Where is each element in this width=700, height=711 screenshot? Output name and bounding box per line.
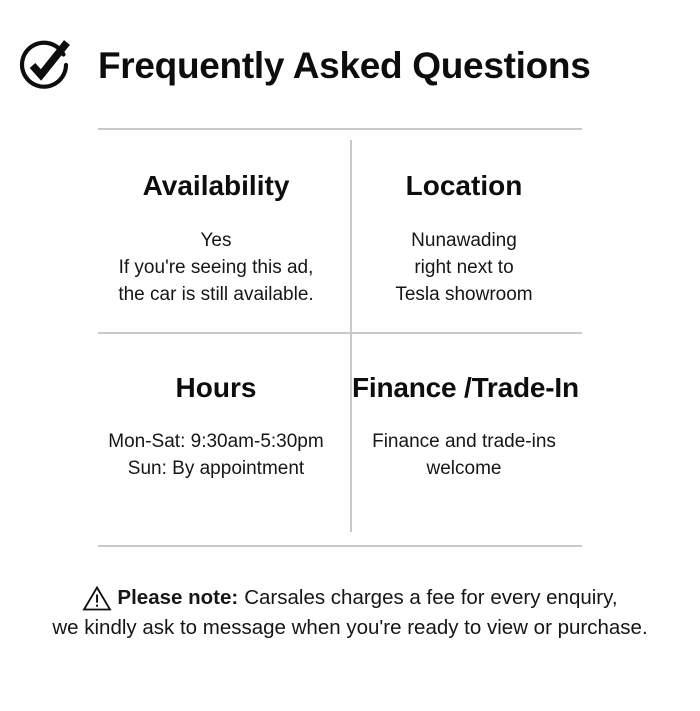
warning-triangle-icon xyxy=(82,585,112,612)
page-title: Frequently Asked Questions xyxy=(98,47,591,84)
faq-grid: Availability Yes If you're seeing this a… xyxy=(98,140,582,532)
faq-heading: Finance /Trade-In xyxy=(352,374,576,402)
faq-body-line: If you're seeing this ad, xyxy=(104,254,328,281)
faq-heading: Location xyxy=(352,172,576,200)
faq-body-line: Nunawading xyxy=(352,227,576,254)
faq-row: Hours Mon-Sat: 9:30am-5:30pm Sun: By app… xyxy=(98,336,582,532)
faq-body-line: right next to xyxy=(352,254,576,281)
faq-cell-hours: Hours Mon-Sat: 9:30am-5:30pm Sun: By app… xyxy=(98,336,340,532)
faq-body-line: Sun: By appointment xyxy=(104,455,328,482)
faq-heading: Availability xyxy=(104,172,328,200)
faq-card: Frequently Asked Questions Availability … xyxy=(0,0,700,711)
faq-body-line: Mon-Sat: 9:30am-5:30pm xyxy=(104,428,328,455)
faq-cell-availability: Availability Yes If you're seeing this a… xyxy=(98,140,340,336)
footer-line-one: Please note: Carsales charges a fee for … xyxy=(0,583,700,612)
faq-body: Finance and trade-ins welcome xyxy=(352,428,576,482)
faq-heading: Hours xyxy=(104,374,328,402)
faq-body-line: the car is still available. xyxy=(104,281,328,308)
faq-body-line: Tesla showroom xyxy=(352,281,576,308)
faq-cell-location: Location Nunawading right next to Tesla … xyxy=(340,140,582,336)
faq-body: Nunawading right next to Tesla showroom xyxy=(352,227,576,308)
footer-line-one-rest: Carsales charges a fee for every enquiry… xyxy=(244,583,617,612)
header: Frequently Asked Questions xyxy=(0,34,700,96)
footer-line-two: we kindly ask to message when you're rea… xyxy=(0,613,700,642)
divider-top xyxy=(98,128,582,130)
divider-bottom xyxy=(98,545,582,547)
footer-lead: Please note: xyxy=(117,583,238,612)
faq-body: Yes If you're seeing this ad, the car is… xyxy=(104,227,328,308)
footer-note: Please note: Carsales charges a fee for … xyxy=(0,583,700,642)
faq-cell-finance-trade-in: Finance /Trade-In Finance and trade-ins … xyxy=(340,336,582,532)
faq-body: Mon-Sat: 9:30am-5:30pm Sun: By appointme… xyxy=(104,428,328,482)
faq-row: Availability Yes If you're seeing this a… xyxy=(98,140,582,336)
faq-body-line: Yes xyxy=(104,227,328,254)
faq-body-line: welcome xyxy=(352,455,576,482)
check-circle-icon xyxy=(16,37,72,93)
faq-body-line: Finance and trade-ins xyxy=(352,428,576,455)
